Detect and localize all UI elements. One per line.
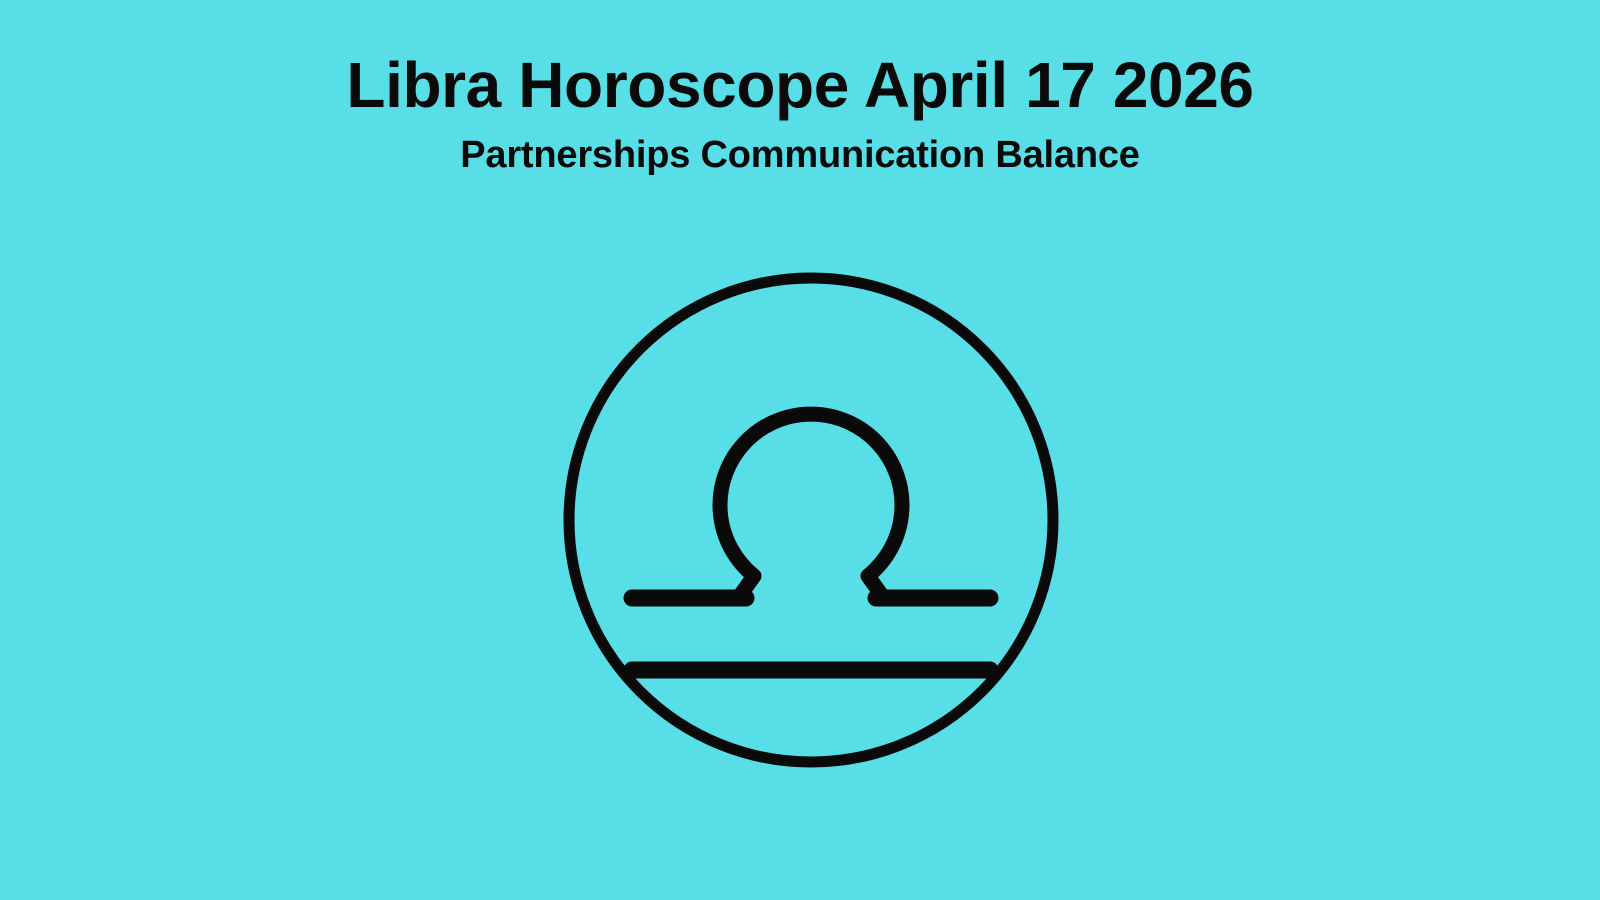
- symbol-container: [0, 260, 1600, 840]
- page-subtitle: Partnerships Communication Balance: [0, 132, 1600, 178]
- libra-zodiac-icon: [551, 260, 1071, 780]
- outer-circle-icon: [569, 278, 1053, 762]
- header: Libra Horoscope April 17 2026 Partnershi…: [0, 0, 1600, 178]
- horoscope-poster: Libra Horoscope April 17 2026 Partnershi…: [0, 0, 1600, 900]
- page-title: Libra Horoscope April 17 2026: [0, 48, 1600, 122]
